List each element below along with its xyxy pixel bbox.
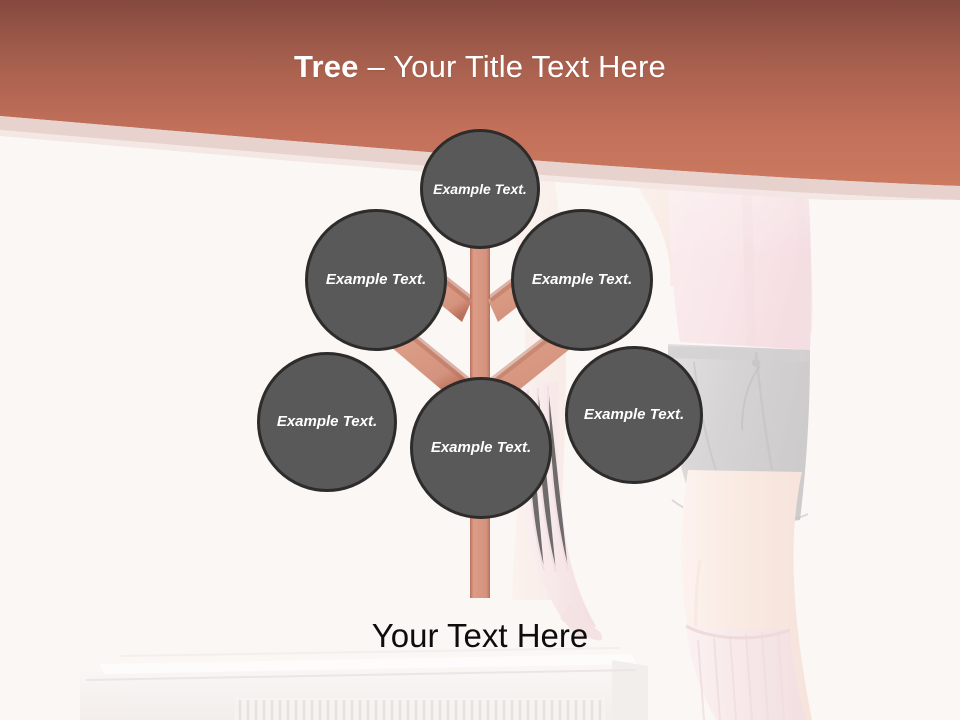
- bottom-caption: Your Text Here: [0, 617, 960, 655]
- slide-canvas: Tree – Your Title Text Here: [0, 0, 960, 720]
- node-bottom-center[interactable]: Example Text.: [410, 377, 552, 519]
- node-mid-right-label: Example Text.: [532, 269, 632, 292]
- node-top[interactable]: Example Text.: [420, 129, 540, 249]
- node-mid-right[interactable]: Example Text.: [511, 209, 653, 351]
- node-mid-left-label: Example Text.: [326, 269, 426, 292]
- node-bottom-center-label: Example Text.: [431, 437, 531, 460]
- tree-branches: [0, 0, 960, 720]
- node-mid-left[interactable]: Example Text.: [305, 209, 447, 351]
- node-bottom-right-label: Example Text.: [584, 404, 684, 427]
- node-bottom-left[interactable]: Example Text.: [257, 352, 397, 492]
- node-bottom-left-label: Example Text.: [277, 411, 377, 434]
- node-top-label: Example Text.: [433, 179, 527, 200]
- tree-diagram: Example Text. Example Text. Example Text…: [0, 0, 960, 720]
- node-bottom-right[interactable]: Example Text.: [565, 346, 703, 484]
